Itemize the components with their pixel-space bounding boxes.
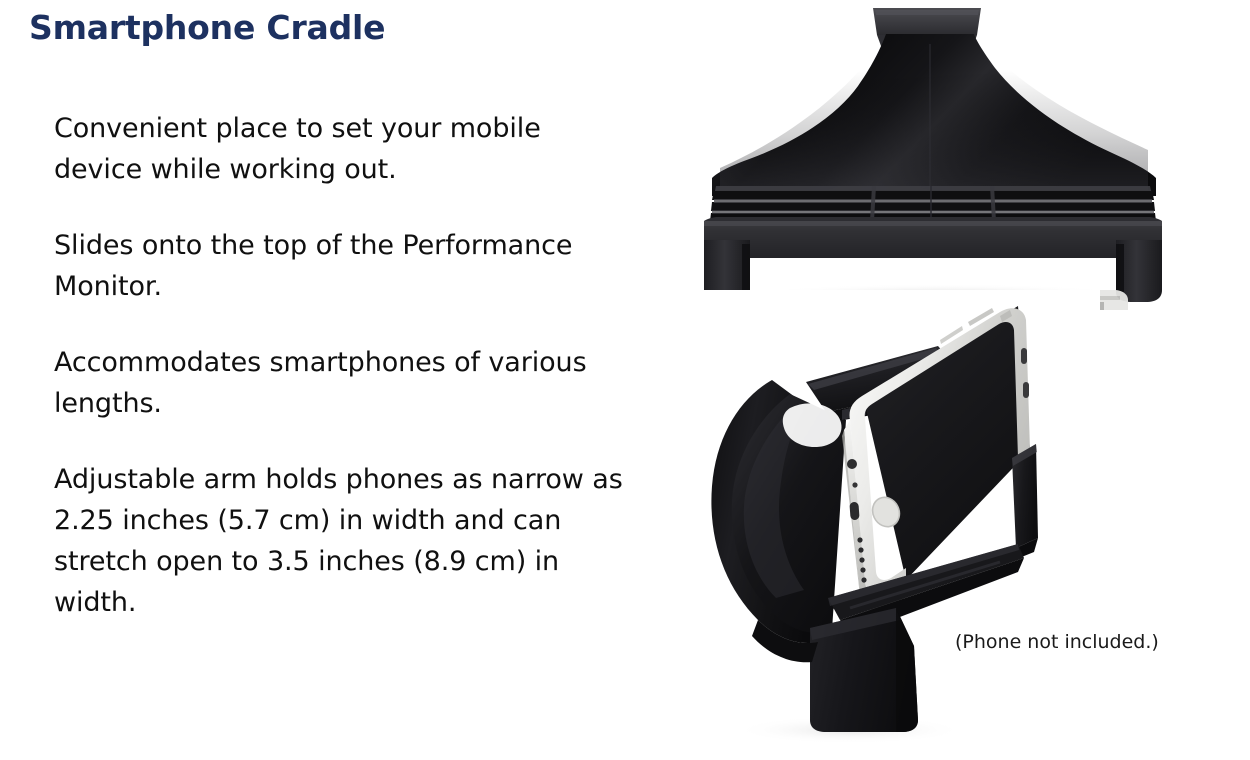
cradle-front-illustration bbox=[690, 0, 1250, 310]
feature-list: Convenient place to set your mobile devi… bbox=[54, 108, 634, 623]
cradle-with-phone-illustration bbox=[700, 290, 1100, 745]
page-title: Smartphone Cradle bbox=[29, 8, 385, 47]
cradle-ridge-band bbox=[710, 186, 1156, 221]
phone-antenna-band-top bbox=[1021, 348, 1027, 364]
feature-paragraph-2: Slides onto the top of the Performance M… bbox=[54, 225, 634, 307]
phone-headphone-jack bbox=[847, 459, 857, 469]
feature-paragraph-3: Accommodates smartphones of various leng… bbox=[54, 342, 634, 424]
phone-not-included-caption: (Phone not included.) bbox=[955, 631, 1159, 653]
smartphone-cradle-front-view-photo bbox=[690, 0, 1250, 310]
feature-paragraph-4: Adjustable arm holds phones as narrow as… bbox=[54, 459, 634, 623]
cradle-base-bevel bbox=[704, 217, 1162, 221]
phone-charging-port bbox=[849, 502, 859, 521]
feature-paragraph-1: Convenient place to set your mobile devi… bbox=[54, 108, 634, 190]
cradle-base-skirt bbox=[704, 221, 1162, 258]
phone-mic-hole bbox=[852, 482, 857, 487]
phone-antenna-band-bottom bbox=[1023, 382, 1029, 398]
cradle-back-support-fin bbox=[1012, 444, 1038, 560]
smartphone-cradle-with-phone-photo bbox=[700, 290, 1100, 745]
cradle-base-top-edge bbox=[704, 221, 1162, 226]
